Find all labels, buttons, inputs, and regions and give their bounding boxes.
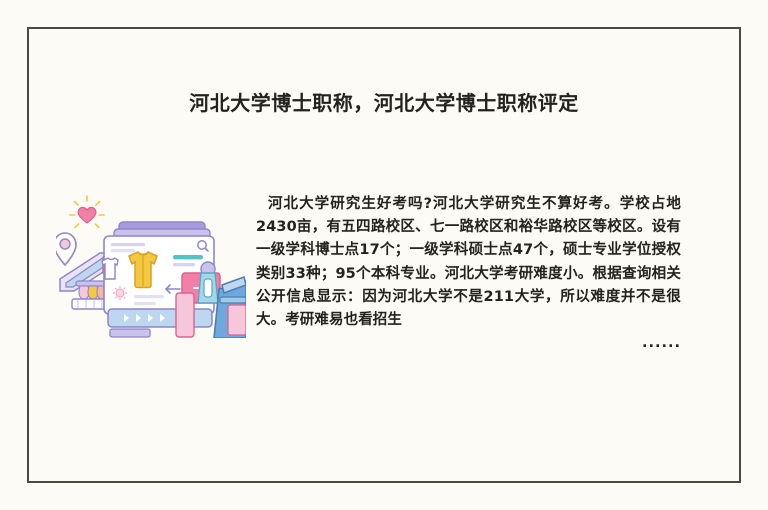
page-title: 河北大学博士职称，河北大学博士职称评定 (0, 89, 768, 117)
article-paragraph: 河北大学研究生好考吗?河北大学研究生不算好考。学校占地2430亩，有五四路校区、… (256, 193, 681, 332)
article-body: 河北大学研究生好考吗?河北大学研究生不算好考。学校占地2430亩，有五四路校区、… (256, 193, 681, 355)
window-toolbar (108, 309, 212, 337)
truncation-ellipsis: ...... (256, 332, 681, 355)
online-shopping-illustration: % (56, 193, 246, 338)
location-pin-icon (56, 233, 76, 265)
article-content-row: % (48, 185, 720, 425)
heart-icon (70, 196, 104, 228)
article-page: 河北大学博士职称，河北大学博士职称评定 (0, 0, 768, 510)
